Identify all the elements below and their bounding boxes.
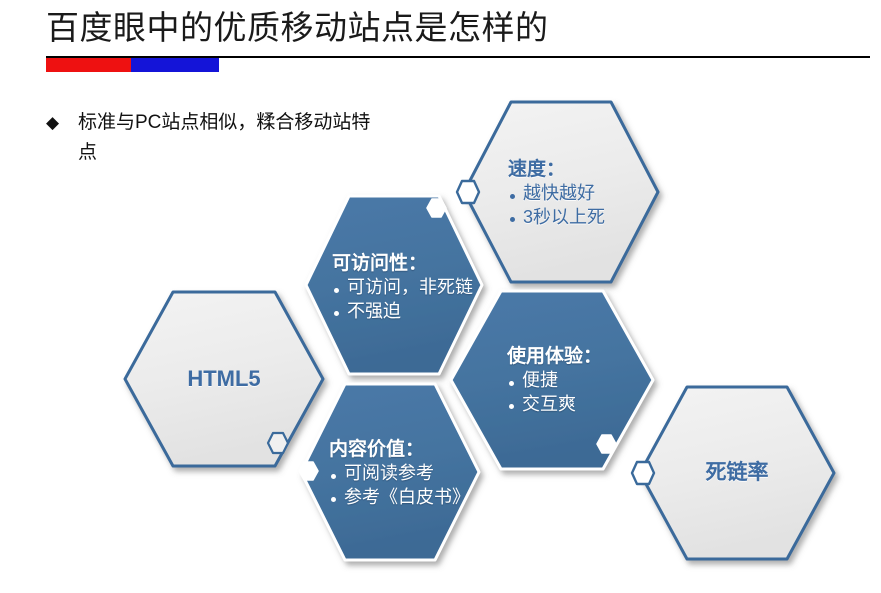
hexagon-node-decoration: [426, 197, 448, 219]
hexagon-dead-link-rate[interactable]: 死链率: [637, 384, 837, 562]
hexagon-html5[interactable]: HTML5: [122, 289, 326, 469]
hexagon-content-value[interactable]: 内容价值： 可阅读参考 参考《白皮书》: [299, 382, 481, 562]
hexagon-node-decoration: [298, 460, 320, 482]
hexagon-node-decoration: [629, 459, 657, 487]
hexagon-node-decoration: [596, 433, 618, 455]
slide-canvas: 百度眼中的优质移动站点是怎样的 ◆ 标准与PC站点相似，糅合移动站特点: [0, 0, 881, 593]
hexagon-diagram: HTML5 速度： 越快越好 3秒以上死: [0, 0, 881, 593]
hexagon-speed[interactable]: 速度： 越快越好 3秒以上死: [461, 99, 661, 285]
hexagon-node-decoration: [266, 431, 290, 455]
